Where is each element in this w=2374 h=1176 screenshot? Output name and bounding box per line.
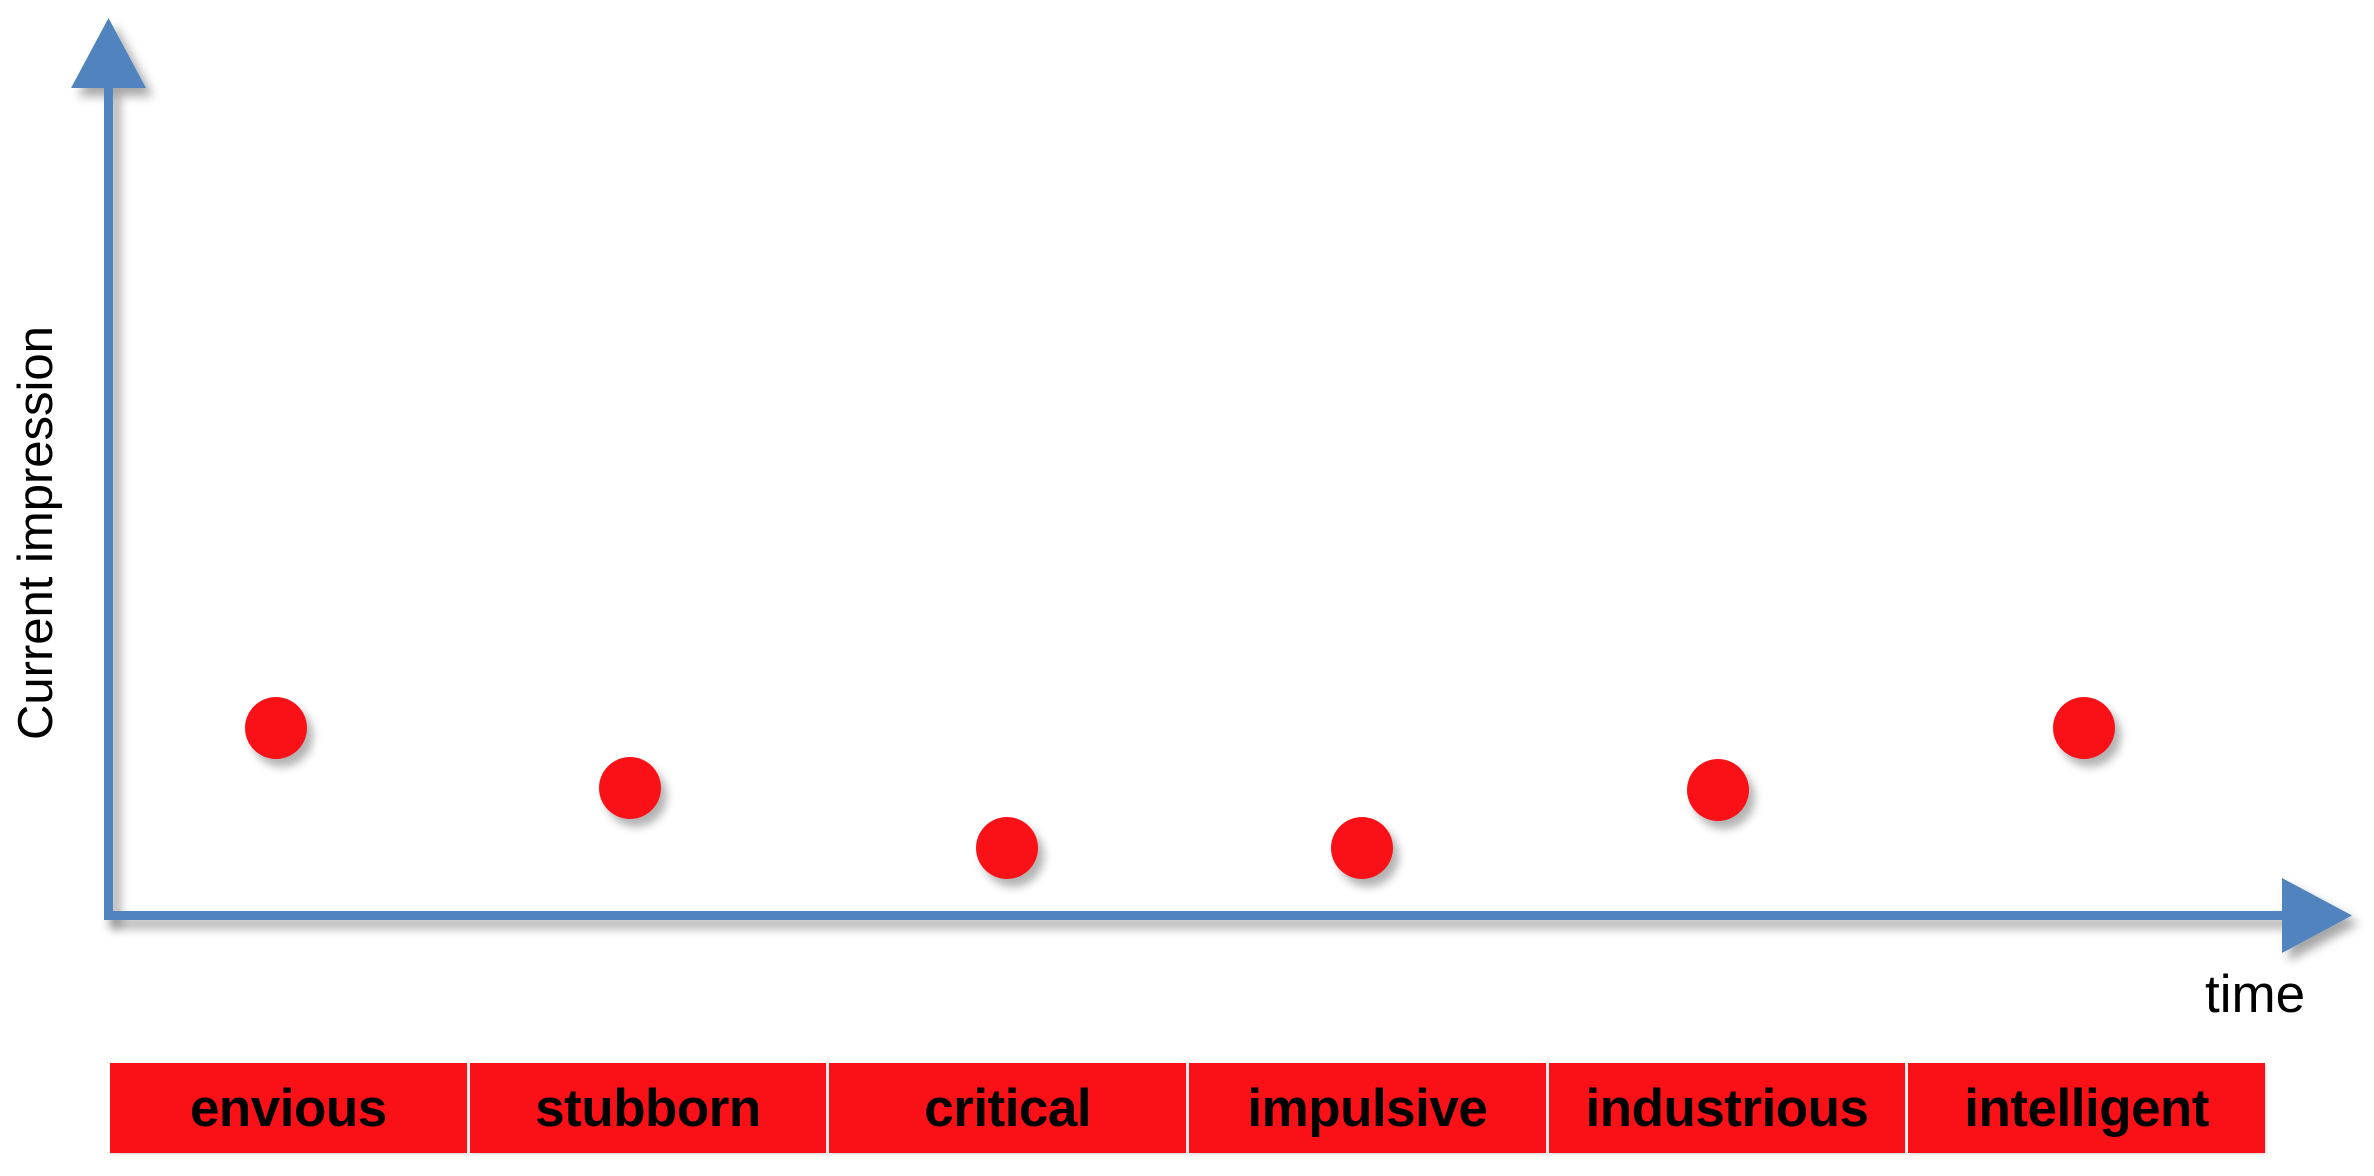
y-axis-arrow [71, 18, 146, 920]
trait-label-text: critical [924, 1078, 1091, 1139]
trait-label-text: industrious [1585, 1078, 1868, 1139]
data-point-envious[interactable] [245, 697, 307, 759]
data-point-industrious[interactable] [1687, 759, 1749, 821]
y-axis-title: Current impression [12, 40, 72, 740]
data-point-impulsive[interactable] [1331, 817, 1393, 879]
trait-label-text: impulsive [1247, 1078, 1487, 1139]
trait-label-box[interactable]: stubborn [470, 1063, 827, 1153]
trait-label-text: stubborn [535, 1078, 761, 1139]
trait-label-box[interactable]: industrious [1549, 1063, 1906, 1153]
data-point-intelligent[interactable] [2053, 697, 2115, 759]
trait-label-text: envious [190, 1078, 387, 1139]
x-axis-title: time [2205, 968, 2305, 1021]
data-point-stubborn[interactable] [599, 757, 661, 819]
trait-label-text: intelligent [1964, 1078, 2209, 1139]
trait-label-box[interactable]: envious [110, 1063, 467, 1153]
axes-group [0, 0, 2374, 1176]
trait-label-box[interactable]: critical [829, 1063, 1186, 1153]
x-axis-arrow [104, 878, 2352, 953]
trait-label-strip: envious stubborn critical impulsive indu… [110, 1063, 2265, 1153]
figure-canvas: Current impression time envious stubborn… [0, 0, 2374, 1176]
trait-label-box[interactable]: impulsive [1189, 1063, 1546, 1153]
data-point-critical[interactable] [976, 817, 1038, 879]
trait-label-box[interactable]: intelligent [1908, 1063, 2265, 1153]
